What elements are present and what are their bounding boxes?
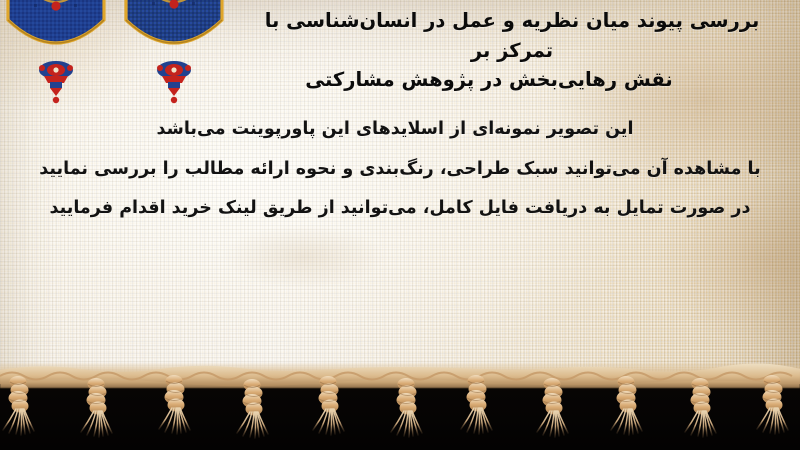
title-line-1: بررسی پیوند میان نظریه و عمل در انسان‌شن… <box>238 6 786 65</box>
body-line-3: در صورت تمایل به دریافت فایل کامل، می‌تو… <box>12 189 788 229</box>
body-line-1: این تصویر نمونه‌ای از اسلایدهای این پاور… <box>12 110 788 150</box>
title-line-2: نقش رهایی‌بخش در پژوهش مشارکتی <box>238 65 786 95</box>
fringe-tassels <box>0 354 800 450</box>
slide-title: بررسی پیوند میان نظریه و عمل در انسان‌شن… <box>238 6 786 95</box>
carpet-fringe <box>0 354 800 450</box>
presentation-slide: بررسی پیوند میان نظریه و عمل در انسان‌شن… <box>0 0 800 450</box>
slide-body: این تصویر نمونه‌ای از اسلایدهای این پاور… <box>12 110 788 229</box>
body-line-2: با مشاهده آن می‌توانید سبک طراحی، رنگ‌بن… <box>12 150 788 190</box>
